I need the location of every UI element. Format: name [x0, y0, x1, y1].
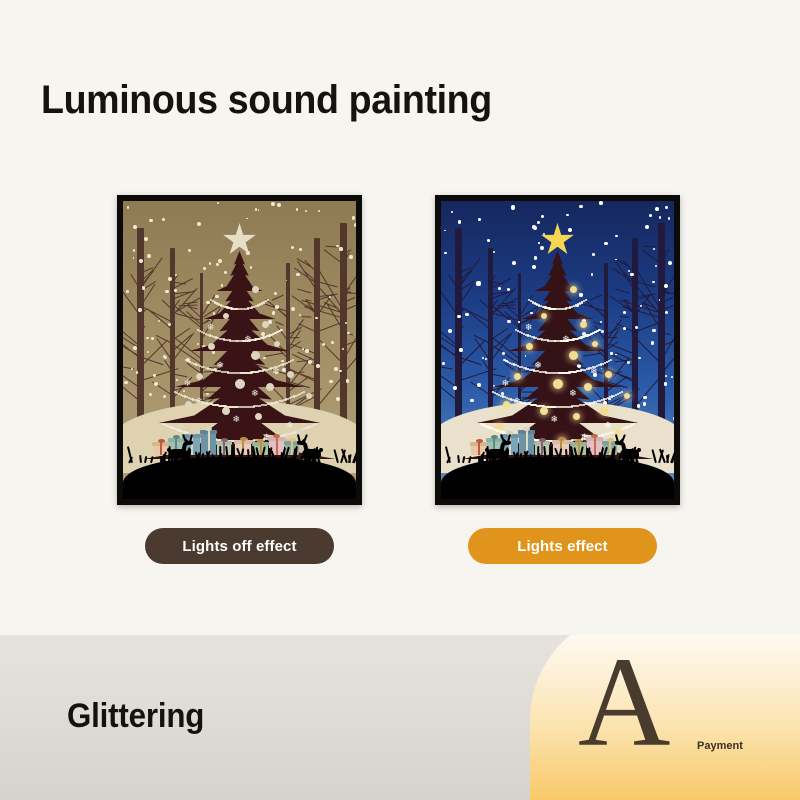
lights-effect-button[interactable]: Lights effect [468, 528, 657, 564]
banner-title: Glittering [67, 697, 204, 736]
page-title: Luminous sound painting [41, 78, 492, 123]
artwork-panel-lights-on[interactable]: ❄❄❄❄❄❄❄❄❄❄ [435, 195, 680, 505]
artwork-lights-on: ❄❄❄❄❄❄❄❄❄❄ [441, 201, 674, 499]
payment-panel[interactable]: A Payment [530, 635, 800, 800]
brand-letter-a: A [578, 638, 670, 766]
deer-silhouette [165, 425, 199, 469]
artwork-lights-off: ❄❄❄❄❄❄❄❄❄❄ [123, 201, 356, 499]
lights-off-effect-button[interactable]: Lights off effect [145, 528, 334, 564]
picture-frame: ❄❄❄❄❄❄❄❄❄❄ [117, 195, 362, 505]
deer-silhouette [483, 425, 517, 469]
artwork-panel-lights-off[interactable]: ❄❄❄❄❄❄❄❄❄❄ [117, 195, 362, 505]
payment-label: Payment [697, 740, 743, 752]
bottom-banner: Glittering A Payment [0, 635, 800, 800]
page-root: Luminous sound painting ❄❄❄❄❄❄❄❄❄❄ Light… [0, 0, 800, 800]
picture-frame: ❄❄❄❄❄❄❄❄❄❄ [435, 195, 680, 505]
